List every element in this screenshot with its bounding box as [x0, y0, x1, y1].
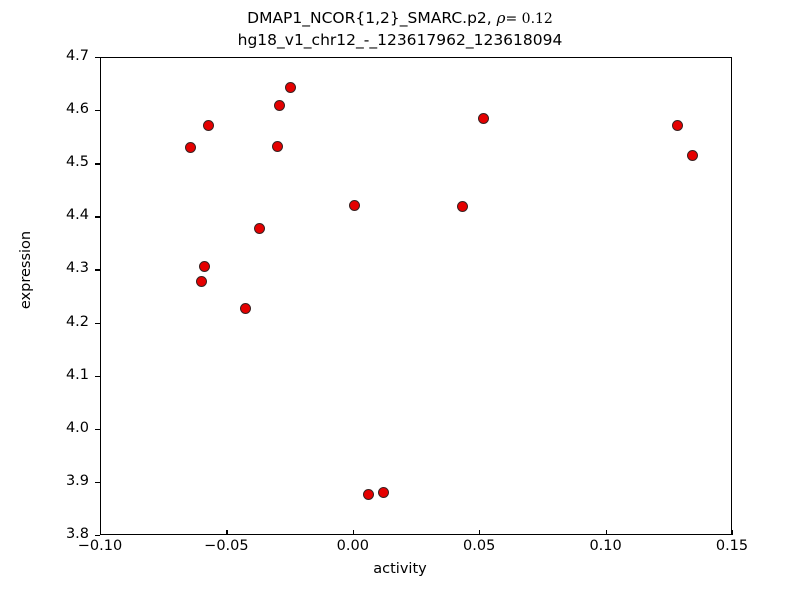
y-tick-mark — [95, 482, 100, 483]
chart-title: DMAP1_NCOR{1,2}_SMARC.p2, ρ= 0.12 hg18_v… — [0, 8, 800, 51]
data-point — [672, 120, 683, 131]
rho-value: = 0.12 — [505, 11, 552, 27]
x-tick-label: 0.00 — [313, 538, 393, 554]
y-tick-mark — [95, 163, 100, 164]
data-point — [199, 261, 210, 272]
y-tick-mark — [95, 57, 100, 58]
data-point — [457, 201, 468, 212]
data-point — [272, 141, 283, 152]
data-point — [285, 82, 296, 93]
y-tick-label: 4.5 — [43, 154, 89, 170]
y-tick-label: 4.2 — [43, 314, 89, 330]
x-tick-label: 0.10 — [566, 538, 646, 554]
data-point — [349, 200, 360, 211]
y-tick-mark — [95, 110, 100, 111]
x-tick-mark — [226, 530, 227, 535]
chart-title-line-1: DMAP1_NCOR{1,2}_SMARC.p2, ρ= 0.12 — [0, 8, 800, 30]
chart-title-line-2: hg18_v1_chr12_-_123617962_123618094 — [0, 30, 800, 51]
x-tick-label: 0.05 — [439, 538, 519, 554]
data-point — [254, 223, 265, 234]
y-tick-label: 4.7 — [43, 48, 89, 64]
x-tick-mark — [100, 530, 101, 535]
y-tick-label: 3.8 — [43, 526, 89, 542]
y-tick-mark — [95, 269, 100, 270]
y-tick-label: 4.4 — [43, 207, 89, 223]
y-tick-label: 4.6 — [43, 101, 89, 117]
x-tick-mark — [732, 530, 733, 535]
x-tick-mark — [353, 530, 354, 535]
x-tick-label: −0.05 — [186, 538, 266, 554]
data-point — [378, 487, 389, 498]
data-point — [185, 142, 196, 153]
plot-area — [100, 57, 732, 535]
data-point — [687, 150, 698, 161]
y-tick-label: 4.3 — [43, 260, 89, 276]
x-tick-mark — [479, 530, 480, 535]
x-tick-label: 0.15 — [692, 538, 772, 554]
y-tick-mark — [95, 323, 100, 324]
data-point — [203, 120, 214, 131]
x-tick-mark — [606, 530, 607, 535]
data-point — [196, 276, 207, 287]
data-point — [363, 489, 374, 500]
y-tick-mark — [95, 535, 100, 536]
data-point — [274, 100, 285, 111]
x-axis-label: activity — [0, 561, 800, 577]
figure-canvas: DMAP1_NCOR{1,2}_SMARC.p2, ρ= 0.12 hg18_v… — [0, 0, 800, 600]
y-tick-mark — [95, 429, 100, 430]
y-tick-mark — [95, 376, 100, 377]
data-point — [478, 113, 489, 124]
data-point — [240, 303, 251, 314]
chart-title-main: DMAP1_NCOR{1,2}_SMARC.p2, — [247, 9, 492, 27]
y-axis-label: expression — [18, 200, 34, 340]
y-tick-mark — [95, 216, 100, 217]
rho-symbol: ρ — [497, 9, 506, 27]
y-tick-label: 3.9 — [43, 473, 89, 489]
y-tick-label: 4.1 — [43, 367, 89, 383]
y-tick-label: 4.0 — [43, 420, 89, 436]
